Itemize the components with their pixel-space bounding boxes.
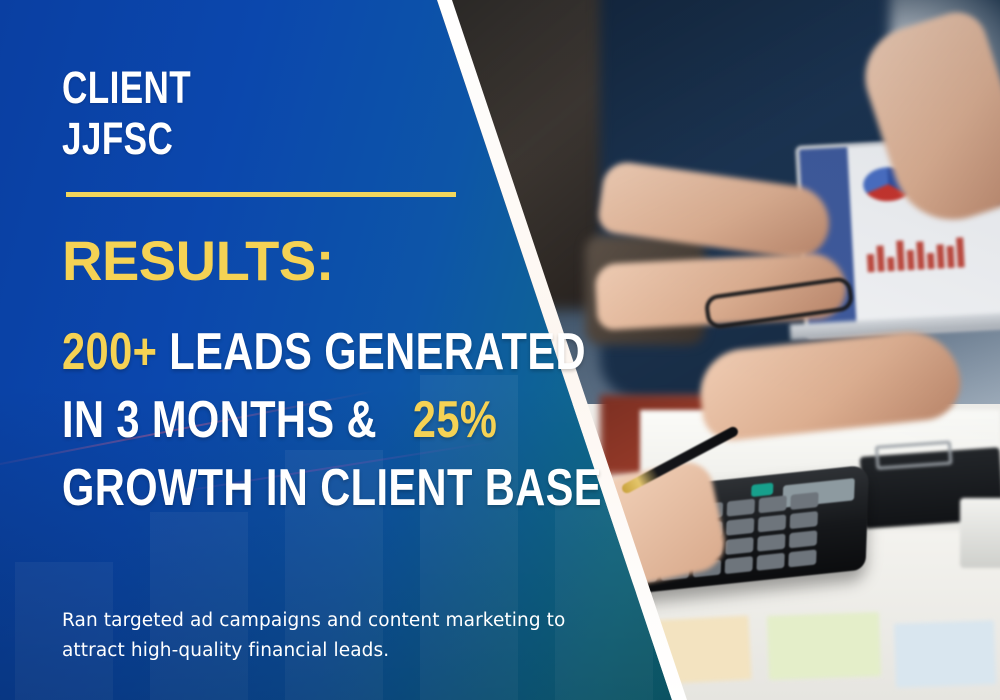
results-headline: 200+ LEADS GENERATED IN 3 MONTHS & 25% G…: [62, 318, 602, 522]
summary-caption: Ran targeted ad campaigns and content ma…: [62, 606, 632, 666]
metric-leads: 200+: [62, 323, 157, 381]
poster-content: CLIENT JJFSC RESULTS: 200+ LEADS GENERAT…: [0, 0, 1000, 700]
headline-line-1-text: LEADS GENERATED: [169, 323, 586, 381]
headline-line-2: IN 3 MONTHS & 25%: [62, 386, 602, 454]
headline-line-3: GROWTH IN CLIENT BASE: [62, 454, 602, 522]
client-kicker: CLIENT JJFSC: [62, 62, 191, 164]
headline-line-2-text: IN 3 MONTHS &: [62, 391, 377, 449]
results-heading: RESULTS:: [62, 232, 334, 290]
headline-line-3-text: GROWTH IN CLIENT BASE: [62, 459, 602, 517]
headline-line-1: 200+ LEADS GENERATED: [62, 318, 602, 386]
yellow-divider-rule: [66, 192, 456, 197]
metric-growth: 25%: [413, 391, 497, 449]
case-study-poster: CLIENT JJFSC RESULTS: 200+ LEADS GENERAT…: [0, 0, 1000, 700]
